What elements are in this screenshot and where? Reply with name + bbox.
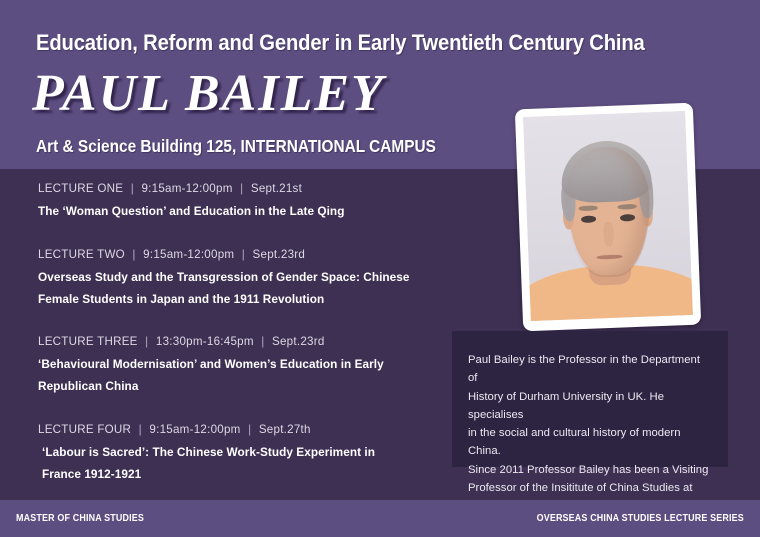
footer-program-label: MASTER OF CHINA STUDIES <box>16 512 144 524</box>
meta-separator: | <box>128 248 139 261</box>
biography-panel: Paul Bailey is the Professor in the Depa… <box>452 331 728 467</box>
page-title: Education, Reform and Gender in Early Tw… <box>36 30 666 56</box>
portrait-photo-frame <box>515 103 701 332</box>
meta-separator: | <box>127 182 138 195</box>
lecture-title-line: ‘Labour is Sacred’: The Chinese Work-Stu… <box>38 442 438 464</box>
biography-line: History of Durham University in UK. He s… <box>468 388 712 425</box>
lecture-time: 9:15am-12:00pm <box>143 248 234 261</box>
lecture-number: LECTURE ONE <box>38 182 123 195</box>
lecture-date: Sept.23rd <box>253 248 306 261</box>
lecture-number: LECTURE THREE <box>38 335 138 348</box>
lecture-date: Sept.27th <box>259 423 311 436</box>
lecture-title: Overseas Study and the Transgression of … <box>38 267 438 311</box>
lecture-poster: Education, Reform and Gender in Early Tw… <box>0 0 760 537</box>
meta-separator: | <box>238 248 249 261</box>
lecture-title-line: Republican China <box>38 376 438 398</box>
lecture-time: 9:15am-12:00pm <box>149 423 240 436</box>
lecture-title-line: Overseas Study and the Transgression of … <box>38 267 438 289</box>
lecture-title-line: The ‘Woman Question’ and Education in th… <box>38 201 438 223</box>
lecture-item: LECTURE TWO | 9:15am-12:00pm | Sept.23rd… <box>38 248 438 311</box>
lecture-meta: LECTURE ONE | 9:15am-12:00pm | Sept.21st <box>38 182 438 195</box>
lecture-list: LECTURE ONE | 9:15am-12:00pm | Sept.21st… <box>38 182 438 486</box>
meta-separator: | <box>141 335 152 348</box>
lecture-meta: LECTURE THREE | 13:30pm-16:45pm | Sept.2… <box>38 335 438 348</box>
lecture-title: ‘Labour is Sacred’: The Chinese Work-Stu… <box>38 442 438 486</box>
portrait-photo <box>523 111 693 321</box>
lecture-item: LECTURE ONE | 9:15am-12:00pm | Sept.21st… <box>38 182 438 223</box>
lecture-time: 13:30pm-16:45pm <box>156 335 254 348</box>
footer-series-label: OVERSEAS CHINA STUDIES LECTURE SERIES <box>537 512 744 524</box>
biography-line: Paul Bailey is the Professor in the Depa… <box>468 351 712 388</box>
venue-line: Art & Science Building 125, INTERNATIONA… <box>36 136 436 157</box>
lecture-meta: LECTURE FOUR | 9:15am-12:00pm | Sept.27t… <box>38 423 438 436</box>
lecture-title-line: ‘Behavioural Modernisation’ and Women’s … <box>38 354 438 376</box>
meta-separator: | <box>236 182 247 195</box>
lecture-title: The ‘Woman Question’ and Education in th… <box>38 201 438 223</box>
lecture-time: 9:15am-12:00pm <box>141 182 232 195</box>
lecture-item: LECTURE THREE | 13:30pm-16:45pm | Sept.2… <box>38 335 438 398</box>
lecture-title-line: Female Students in Japan and the 1911 Re… <box>38 289 438 311</box>
speaker-name: PAUL BAILEY <box>32 64 385 123</box>
biography-line: Since 2011 Professor Bailey has been a V… <box>468 461 712 479</box>
meta-separator: | <box>135 423 146 436</box>
biography-line: in the social and cultural history of mo… <box>468 424 712 461</box>
lecture-title: ‘Behavioural Modernisation’ and Women’s … <box>38 354 438 398</box>
lecture-number: LECTURE FOUR <box>38 423 131 436</box>
lecture-title-line: France 1912-1921 <box>38 464 438 486</box>
footer-band: MASTER OF CHINA STUDIES OVERSEAS CHINA S… <box>0 500 760 537</box>
lecture-item: LECTURE FOUR | 9:15am-12:00pm | Sept.27t… <box>38 423 438 486</box>
lecture-meta: LECTURE TWO | 9:15am-12:00pm | Sept.23rd <box>38 248 438 261</box>
lecture-date: Sept.23rd <box>272 335 325 348</box>
meta-separator: | <box>257 335 268 348</box>
meta-separator: | <box>244 423 255 436</box>
lecture-number: LECTURE TWO <box>38 248 125 261</box>
lecture-date: Sept.21st <box>251 182 302 195</box>
